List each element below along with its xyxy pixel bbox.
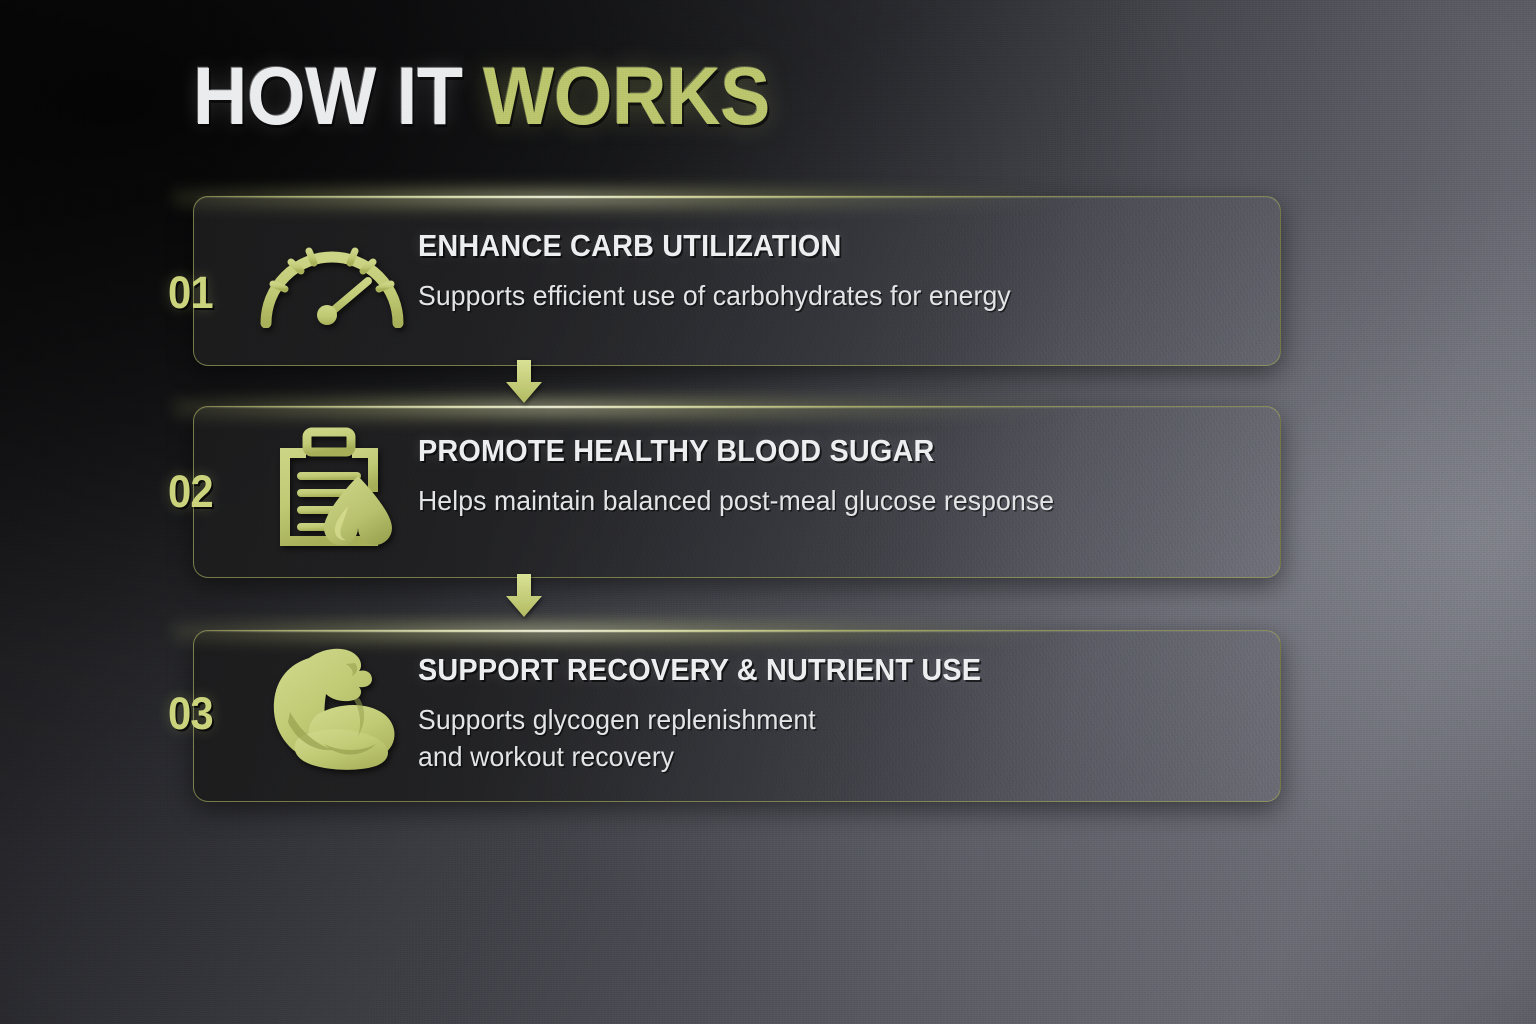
step-number-3: 03 [168,688,213,740]
speedometer-gauge-icon [254,228,410,328]
step-text-1: ENHANCE CARB UTILIZATION Supports effici… [418,228,1042,314]
step-heading-2: PROMOTE HEALTHY BLOOD SUGAR [418,433,1041,469]
page-title: HOW IT WORKS [193,56,770,138]
step-number-1: 01 [168,267,213,319]
step-number-2: 02 [168,466,213,518]
clipboard-blood-drop-icon [260,424,398,556]
step-subtitle-3-line-1: Supports glycogen replenishment [418,701,993,738]
step-subtitle-3: Supports glycogen replenishment and work… [418,701,993,775]
flexed-bicep-muscle-icon [256,640,408,772]
arrow-down-icon [502,360,546,404]
step-heading-1: ENHANCE CARB UTILIZATION [418,228,998,264]
step-text-2: PROMOTE HEALTHY BLOOD SUGAR Helps mainta… [418,433,1088,519]
step-subtitle-1-line-1: Supports efficient use of carbohydrates … [418,277,1011,314]
step-heading-3: SUPPORT RECOVERY & NUTRIENT USE [418,652,981,688]
infographic-slide: HOW IT WORKS 01 [0,0,1536,1024]
step-subtitle-3-line-2: and workout recovery [418,738,993,775]
page-title-part-white: HOW IT [193,51,483,142]
step-text-3: SUPPORT RECOVERY & NUTRIENT USE Supports… [418,652,1024,775]
page-title-part-accent: WORKS [483,51,770,142]
step-subtitle-2-line-1: Helps maintain balanced post-meal glucos… [418,482,1054,519]
arrow-down-icon [502,574,546,618]
